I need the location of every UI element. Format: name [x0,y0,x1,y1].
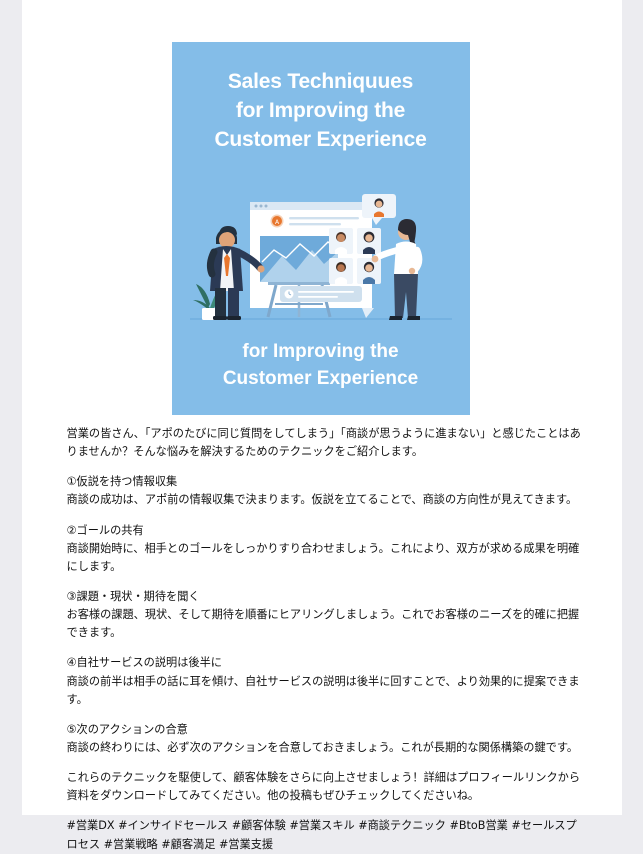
section-heading: ⑤次のアクションの合意 [67,721,587,739]
post-section-4: ④自社サービスの説明は後半に 商談の前半は相手の話に耳を傾け、自社サービスの説明… [67,654,587,708]
hero-title-line-1: Sales Techniquues [182,68,460,97]
hero-footer-line-2: Customer Experience [182,366,460,393]
hero-footer-line-1: for Improving the [182,339,460,366]
post-hashtags: #営業DX #インサイドセールス #顧客体験 #営業スキル #商談テクニック #… [67,817,587,853]
hero-image: Sales Techniquues for Improving the Cust… [172,42,470,415]
hero-title-line-3: Customer Experience [182,126,460,155]
post-closing-paragraph: これらのテクニックを駆使して、顧客体験をさらに向上させましょう！詳細はプロフィー… [67,769,587,805]
section-text: 商談の前半は相手の話に耳を傾け、自社サービスの説明は後半に回すことで、より効果的… [67,673,587,709]
post-section-2: ②ゴールの共有 商談開始時に、相手とのゴールをしっかりすり合わせましょう。これに… [67,522,587,576]
section-heading: ③課題・現状・期待を聞く [67,588,587,606]
post-section-3: ③課題・現状・期待を聞く お客様の課題、現状、そして期待を順番にヒアリングしまし… [67,588,587,642]
section-text: 商談の成功は、アポ前の情報収集で決まります。仮説を立てることで、商談の方向性が見… [67,491,587,509]
document-page: Sales Techniquues for Improving the Cust… [22,0,622,815]
section-heading: ②ゴールの共有 [67,522,587,540]
section-heading: ④自社サービスの説明は後半に [67,654,587,672]
post-section-5: ⑤次のアクションの合意 商談の終わりには、必ず次のアクションを合意しておきましょ… [67,721,587,757]
post-intro-paragraph: 営業の皆さん、「アポのたびに同じ質問をしてしまう」「商談が思うように進まない」と… [67,425,587,461]
post-section-1: ①仮説を持つ情報収集 商談の成功は、アポ前の情報収集で決まります。仮説を立てるこ… [67,473,587,509]
post-body: 営業の皆さん、「アポのたびに同じ質問をしてしまう」「商談が思うように進まない」と… [67,425,587,854]
hero-title: Sales Techniquues for Improving the Cust… [172,68,470,155]
section-heading: ①仮説を持つ情報収集 [67,473,587,491]
section-text: 商談開始時に、相手とのゴールをしっかりすり合わせましょう。これにより、双方が求め… [67,540,587,576]
section-text: 商談の終わりには、必ず次のアクションを合意しておきましょう。これが長期的な関係構… [67,739,587,757]
hero-footer: for Improving the Customer Experience [172,339,470,393]
section-text: お客様の課題、現状、そして期待を順番にヒアリングしましょう。これでお客様のニーズ… [67,606,587,642]
document-page-viewer: Sales Techniquues for Improving the Cust… [0,0,643,815]
hero-title-line-2: for Improving the [182,97,460,126]
business-presentation-illustration: A [172,192,470,337]
